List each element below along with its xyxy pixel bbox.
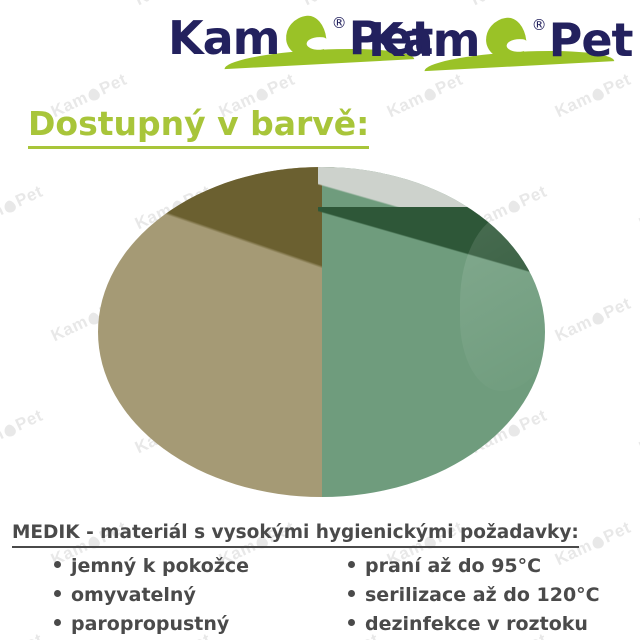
brand-logo-band: Kam ® Pet Kam ® Pet	[0, 0, 640, 92]
watermark-word-pet: Pet	[600, 294, 634, 324]
medik-feature-columns: jemný k pokožce omyvatelný paropropustný…	[0, 552, 640, 639]
color-availability-swatch	[98, 167, 545, 497]
logo-word-kam: Kam	[168, 15, 280, 61]
paw-bean-icon	[2, 199, 18, 215]
swatch-half-green	[322, 167, 545, 497]
list-item-label: serilizace až do 120°C	[365, 581, 600, 610]
watermark-word-kam: Kam	[552, 88, 595, 122]
list-item: dezinfekce v roztoku	[348, 610, 640, 639]
list-item-label: jemný k pokožce	[71, 552, 249, 581]
watermark-word-kam: Kam	[636, 424, 640, 458]
bullet-icon	[54, 619, 61, 626]
bullet-icon	[54, 561, 61, 568]
medik-section-title: MEDIK - materiál s vysokými hygienickými…	[12, 521, 579, 548]
feature-column-left: jemný k pokožce omyvatelný paropropustný	[0, 552, 336, 639]
list-item: omyvatelný	[54, 581, 336, 610]
bullet-icon	[54, 590, 61, 597]
watermark-kampet: KamPet	[0, 406, 46, 458]
paw-bean-icon	[590, 311, 606, 327]
logo-word-pet: Pet	[549, 17, 633, 63]
paw-bean-icon	[484, 14, 530, 66]
list-item-label: omyvatelný	[71, 581, 196, 610]
watermark-word-kam: Kam	[384, 88, 427, 122]
watermark-word-kam: Kam	[48, 312, 91, 346]
logo-word-kam: Kam	[368, 17, 480, 63]
product-color-info-page: KamPetKamPetKamPetKamPetKamPetKamPetKamP…	[0, 0, 640, 640]
watermark-word-pet: Pet	[12, 182, 46, 212]
watermark-word-kam: Kam	[552, 312, 595, 346]
brand-logo-secondary[interactable]: Kam ® Pet	[368, 14, 633, 66]
bullet-icon	[348, 619, 355, 626]
page-heading: Dostupný v barvě:	[28, 104, 369, 149]
list-item-label: praní až do 95°C	[365, 552, 541, 581]
watermark-word-pet: Pet	[12, 406, 46, 436]
watermark-word-kam: Kam	[0, 200, 7, 234]
watermark-word-kam: Kam	[636, 200, 640, 234]
registered-trademark-icon: ®	[532, 16, 547, 34]
list-item-label: paropropustný	[71, 610, 229, 639]
swatch-green-sheen	[460, 213, 545, 391]
watermark-word-kam: Kam	[0, 424, 7, 458]
list-item: serilizace až do 120°C	[348, 581, 640, 610]
paw-bean-icon	[2, 423, 18, 439]
watermark-word-pet: Pet	[600, 518, 634, 548]
registered-trademark-icon: ®	[332, 14, 347, 32]
bullet-icon	[348, 590, 355, 597]
list-item: praní až do 95°C	[348, 552, 640, 581]
watermark-kampet: KamPet	[636, 406, 640, 458]
list-item-label: dezinfekce v roztoku	[365, 610, 588, 639]
watermark-kampet: KamPet	[636, 182, 640, 234]
feature-column-right: praní až do 95°C serilizace až do 120°C …	[336, 552, 640, 639]
watermark-kampet: KamPet	[0, 182, 46, 234]
swatch-beige-shade	[98, 167, 338, 367]
list-item: paropropustný	[54, 610, 336, 639]
swatch-half-beige	[98, 167, 322, 497]
bullet-icon	[348, 561, 355, 568]
watermark-kampet: KamPet	[552, 294, 634, 346]
list-item: jemný k pokožce	[54, 552, 336, 581]
paw-bean-icon	[284, 12, 330, 64]
paw-bean-icon	[590, 535, 606, 551]
